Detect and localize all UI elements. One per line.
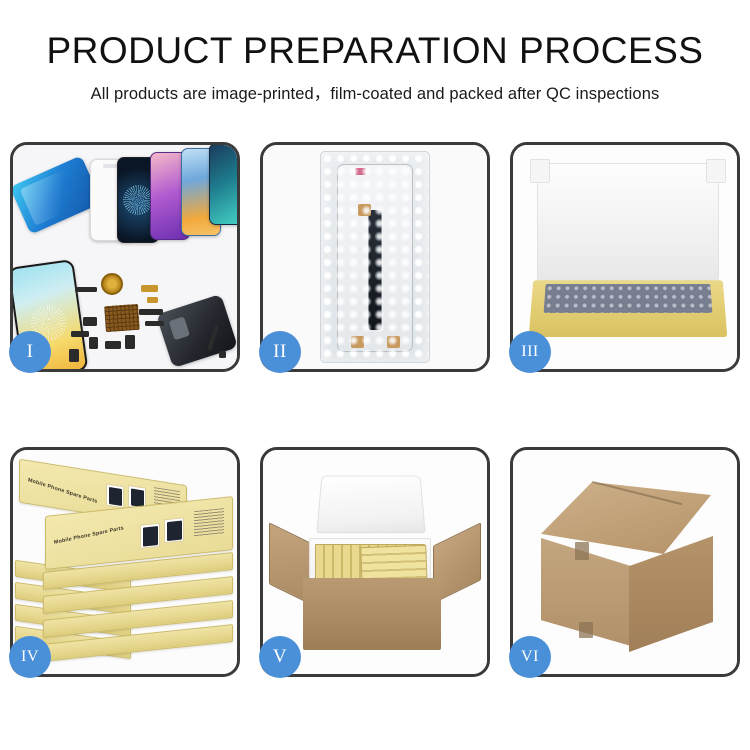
cable-tab: [351, 336, 364, 348]
box-spec-lines: [194, 508, 224, 537]
step-caption-6: Sealed outer shipping carton: [513, 450, 514, 451]
chip-part: [71, 331, 89, 337]
phone-teal: [209, 145, 237, 225]
box-stack: Mobile Phone Spare Parts Mobile Phone Sp…: [13, 450, 237, 674]
step-panel-4[interactable]: Mobile Phone Spare Parts Mobile Phone Sp…: [10, 447, 240, 677]
connector-grid-part: [104, 304, 140, 332]
chip-part: [105, 341, 121, 349]
step-caption-3: Bubble-wrapped parts placed in yellow in…: [513, 145, 514, 146]
phone-back-glass: [13, 155, 102, 234]
gold-bracket-part: [147, 297, 158, 303]
step-badge-5: V: [259, 636, 301, 678]
chip-part: [83, 317, 97, 326]
product-preparation-page: PRODUCT PREPARATION PROCESS All products…: [0, 0, 750, 750]
foam-lid: [316, 476, 425, 534]
step-image-2: [263, 145, 487, 369]
chip-part: [89, 337, 98, 349]
gold-bracket-part: [141, 285, 158, 292]
step-caption-2: LCD screen sealed in bubble wrap: [263, 145, 264, 146]
flex-cable-part: [145, 321, 164, 326]
carton-body: [303, 578, 441, 650]
step-badge-1: I: [9, 331, 51, 373]
step-panel-6[interactable]: VI Sealed outer shipping carton: [510, 447, 740, 677]
box-artwork-thumb: [106, 483, 124, 508]
step-image-6: [513, 450, 737, 674]
step-image-5: [263, 450, 487, 674]
screen-flex-cable: [369, 210, 382, 330]
carton-tape: [575, 542, 589, 560]
step-image-3: [513, 145, 737, 369]
page-subtitle: All products are image-printed，film-coat…: [0, 80, 750, 104]
step-caption-1: Assorted mobile phone displays and spare…: [13, 145, 14, 146]
page-header: PRODUCT PREPARATION PROCESS All products…: [0, 0, 750, 104]
carton-tape: [579, 622, 593, 638]
flex-cable-part: [139, 309, 163, 315]
step-panel-3[interactable]: III Bubble-wrapped parts placed in yello…: [510, 142, 740, 372]
step-image-1: [13, 145, 237, 369]
step-badge-3: III: [509, 331, 551, 373]
box-label-text: Mobile Phone Spare Parts: [28, 477, 98, 505]
step-panel-5[interactable]: V Boxes loaded into foam-lined carton: [260, 447, 490, 677]
chip-part: [125, 335, 135, 349]
bubble-wrap-contents: [544, 284, 713, 313]
box-label-text: Mobile Phone Spare Parts: [54, 525, 124, 546]
box-artwork-thumb: [140, 523, 160, 549]
step-badge-6: VI: [509, 636, 551, 678]
carton-top-face: [541, 482, 711, 554]
box-lid-open: [537, 163, 719, 281]
yellow-box-base: [529, 280, 728, 337]
bubble-wrap-pouch: [320, 151, 430, 363]
qc-sticker: [355, 168, 366, 175]
chip-part: [75, 287, 97, 292]
sim-tray-part: [69, 349, 79, 362]
screw-part: [219, 351, 226, 358]
page-title: PRODUCT PREPARATION PROCESS: [0, 30, 750, 71]
step-badge-4: IV: [9, 636, 51, 678]
cable-tab: [358, 204, 371, 216]
step-caption-5: Boxes loaded into foam-lined carton: [263, 450, 264, 451]
cable-tab: [387, 336, 400, 348]
process-step-grid: I Assorted mobile phone displays and spa…: [10, 142, 740, 677]
speaker-coil-part: [101, 273, 123, 295]
step-panel-1[interactable]: I Assorted mobile phone displays and spa…: [10, 142, 240, 372]
step-badge-2: II: [259, 331, 301, 373]
box-artwork-thumb: [164, 517, 184, 543]
step-image-4: Mobile Phone Spare Parts Mobile Phone Sp…: [13, 450, 237, 674]
carton-right-face: [629, 536, 713, 652]
step-panel-2[interactable]: II LCD screen sealed in bubble wrap: [260, 142, 490, 372]
